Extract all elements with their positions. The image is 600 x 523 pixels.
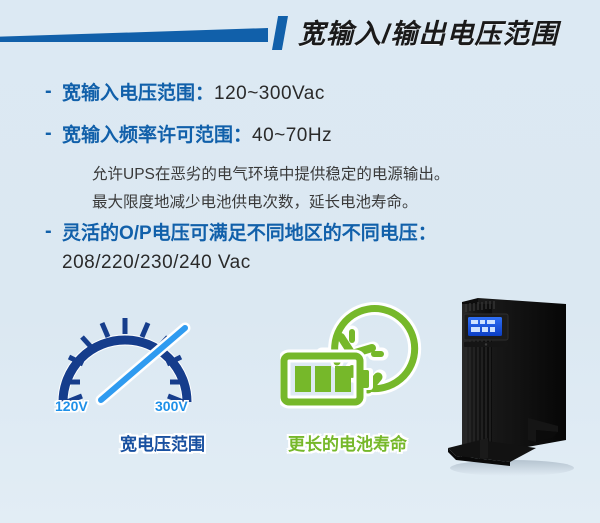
description-line-2: 最大限度地减少电池供电次数，延长电池寿命。 — [92, 190, 418, 212]
spec-row-output-voltage: - 灵活的O/P电压可满足不同地区的不同电压： — [0, 218, 600, 252]
page-root: 宽输入/输出电压范围 - 宽输入电压范围：120~300Vac - 宽输入频率许… — [0, 0, 600, 523]
ups-display — [468, 317, 502, 336]
spec-value-frequency-range: 40~70Hz — [252, 125, 332, 146]
gauge-caption: 宽电压范围 — [120, 430, 205, 455]
spec-row-voltage-range: - 宽输入电压范围：120~300Vac — [0, 78, 600, 112]
spec-row-frequency-range: - 宽输入频率许可范围：40~70Hz — [0, 120, 600, 154]
battery-caption: 更长的电池寿命 — [288, 430, 407, 455]
feature-wide-voltage: 120V 300V 宽电压范围 — [45, 290, 245, 450]
header-accent-line — [0, 28, 268, 42]
spec-value-voltage-range: 120~300Vac — [214, 83, 325, 104]
spec-label-voltage-range: 宽输入电压范围：120~300Vac — [62, 78, 325, 105]
spec-label-text: 宽输入电压范围： — [62, 83, 214, 104]
spec-label-text: 宽输入频率许可范围： — [62, 125, 252, 146]
ups-product-illustration — [440, 290, 590, 480]
description-line-1: 允许UPS在恶劣的电气环境中提供稳定的电源输出。 — [92, 162, 449, 184]
voltage-list-value: 208/220/230/240 Vac — [62, 252, 251, 274]
battery-clock-icon — [280, 290, 460, 430]
page-title: 宽输入/输出电压范围 — [298, 12, 559, 51]
spec-label-output-voltage: 灵活的O/P电压可满足不同地区的不同电压： — [62, 218, 437, 245]
gauge-max-label: 300V — [155, 398, 188, 414]
bullet-dash: - — [45, 122, 52, 145]
bullet-dash: - — [45, 220, 52, 243]
spec-label-frequency-range: 宽输入频率许可范围：40~70Hz — [62, 120, 332, 147]
ups-tower-device — [440, 290, 590, 470]
page-header: 宽输入/输出电压范围 — [0, 0, 600, 62]
bullet-dash: - — [45, 80, 52, 103]
slash-mark-icon — [272, 16, 288, 50]
gauge-min-label: 120V — [55, 398, 88, 414]
